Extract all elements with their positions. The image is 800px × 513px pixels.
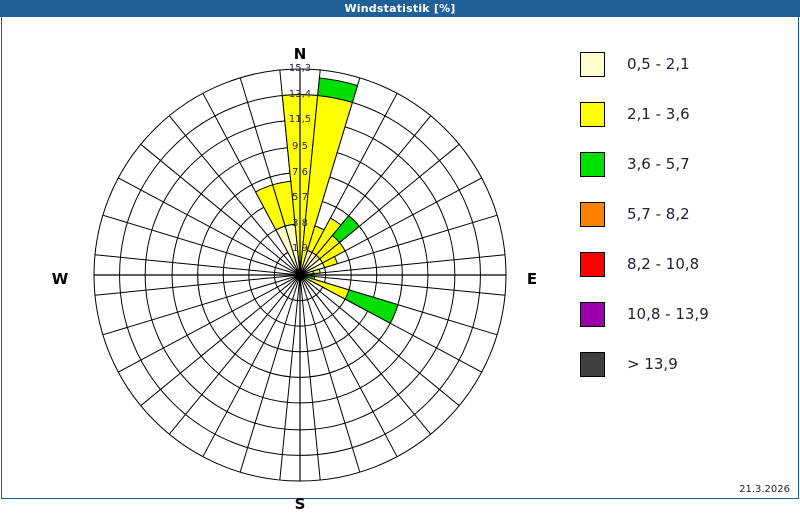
legend-item[interactable]: 2,1 - 3,6 xyxy=(580,89,795,139)
radial-tick-label: 15,3 xyxy=(283,63,317,74)
compass-label-north: N xyxy=(288,45,312,63)
legend-color-swatch xyxy=(580,302,605,327)
legend-item[interactable]: 0,5 - 2,1 xyxy=(580,39,795,89)
legend-label: 0,5 - 2,1 xyxy=(627,55,690,73)
radial-tick-label: 1,9 xyxy=(283,243,317,254)
legend-label: > 13,9 xyxy=(627,355,678,373)
legend-color-swatch xyxy=(580,252,605,277)
legend-item[interactable]: > 13,9 xyxy=(580,339,795,389)
window-title: Windstatistik [%] xyxy=(344,2,455,15)
compass-label-south: S xyxy=(288,495,312,513)
window-client-area: N S E W 1,93,85,77,69,511,513,415,3 0,5 … xyxy=(1,17,799,499)
legend-color-swatch xyxy=(580,152,605,177)
legend-item[interactable]: 8,2 - 10,8 xyxy=(580,239,795,289)
radial-tick-label: 9,5 xyxy=(283,141,317,152)
legend-item[interactable]: 10,8 - 13,9 xyxy=(580,289,795,339)
legend-color-swatch xyxy=(580,352,605,377)
radial-tick-label: 7,6 xyxy=(283,167,317,178)
wind-statistics-window: Windstatistik [%] N S E W 1,93,85,77,69,… xyxy=(0,0,800,500)
speed-legend: 0,5 - 2,12,1 - 3,63,6 - 5,75,7 - 8,28,2 … xyxy=(580,39,795,389)
legend-color-swatch xyxy=(580,52,605,77)
polar-axis-lines xyxy=(94,69,506,481)
radial-tick-label: 3,8 xyxy=(283,218,317,229)
compass-label-east: E xyxy=(520,270,544,288)
wind-rose-chart: N S E W 1,93,85,77,69,511,513,415,3 xyxy=(2,17,572,497)
legend-item[interactable]: 5,7 - 8,2 xyxy=(580,189,795,239)
compass-label-west: W xyxy=(48,270,72,288)
radial-tick-label: 13,4 xyxy=(283,89,317,100)
legend-label: 2,1 - 3,6 xyxy=(627,105,690,123)
radial-tick-label: 11,5 xyxy=(283,114,317,125)
window-titlebar: Windstatistik [%] xyxy=(0,0,800,17)
footer-date: 21.3.2026 xyxy=(739,484,790,495)
radial-tick-label: 5,7 xyxy=(283,192,317,203)
legend-label: 3,6 - 5,7 xyxy=(627,155,690,173)
legend-item[interactable]: 3,6 - 5,7 xyxy=(580,139,795,189)
legend-label: 8,2 - 10,8 xyxy=(627,255,699,273)
legend-label: 10,8 - 13,9 xyxy=(627,305,709,323)
legend-label: 5,7 - 8,2 xyxy=(627,205,690,223)
legend-color-swatch xyxy=(580,102,605,127)
legend-color-swatch xyxy=(580,202,605,227)
